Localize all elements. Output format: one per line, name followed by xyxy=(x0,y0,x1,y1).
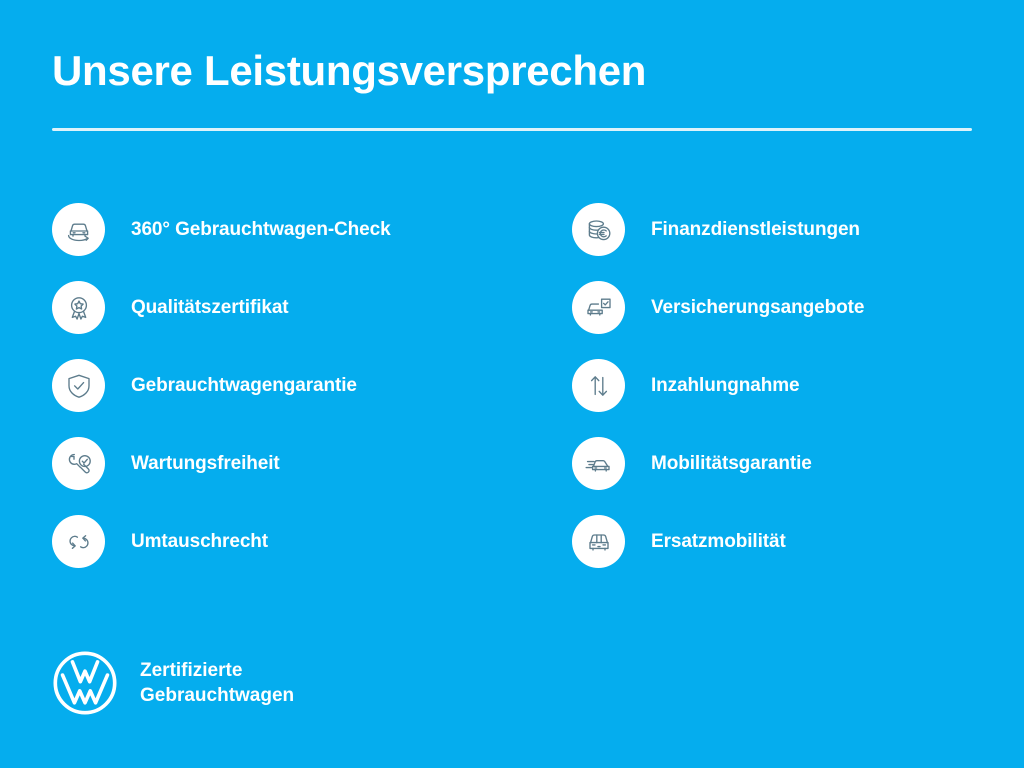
page-title: Unsere Leistungsversprechen xyxy=(52,48,972,94)
benefit-label: Ersatzmobilität xyxy=(651,531,786,553)
benefits-section: 360° Gebrauchtwagen-Check Qualitätszerti… xyxy=(0,203,1024,593)
brand-footer-line-1: Zertifizierte xyxy=(140,658,294,683)
benefit-label: Qualitätszertifikat xyxy=(131,297,289,319)
benefits-right-column: Finanzdienstleistungen xyxy=(572,203,1012,593)
benefit-item-quality-certificate[interactable]: Qualitätszertifikat xyxy=(52,281,522,334)
badge xyxy=(572,203,625,256)
benefit-item-360-check[interactable]: 360° Gebrauchtwagen-Check xyxy=(52,203,522,256)
benefit-label: 360° Gebrauchtwagen-Check xyxy=(131,219,391,241)
shield-check-icon xyxy=(63,370,95,402)
badge xyxy=(52,515,105,568)
badge xyxy=(52,203,105,256)
car-speed-icon xyxy=(583,448,615,480)
coins-euro-icon xyxy=(583,214,615,246)
benefit-item-insurance-offers[interactable]: Versicherungsangebote xyxy=(572,281,1012,334)
benefit-item-mobility-guarantee[interactable]: Mobilitätsgarantie xyxy=(572,437,1012,490)
benefit-item-trade-in[interactable]: Inzahlungnahme xyxy=(572,359,1012,412)
volkswagen-logo xyxy=(52,650,118,716)
car-front-icon xyxy=(583,526,615,558)
benefit-item-maintenance-free[interactable]: Wartungsfreiheit xyxy=(52,437,522,490)
brand-footer-line-2: Gebrauchtwagen xyxy=(140,683,294,708)
benefit-label: Inzahlungnahme xyxy=(651,375,800,397)
benefit-item-exchange-right[interactable]: Umtauschrecht xyxy=(52,515,522,568)
benefit-label: Finanzdienstleistungen xyxy=(651,219,860,241)
award-rosette-icon xyxy=(63,292,95,324)
badge xyxy=(52,437,105,490)
title-divider xyxy=(52,128,972,131)
car-document-check-icon xyxy=(583,292,615,324)
badge xyxy=(572,281,625,334)
benefit-label: Versicherungsangebote xyxy=(651,297,864,319)
up-down-arrows-icon xyxy=(583,370,615,402)
benefit-item-financial-services[interactable]: Finanzdienstleistungen xyxy=(572,203,1012,256)
exchange-arrows-icon xyxy=(63,526,95,558)
benefit-item-warranty[interactable]: Gebrauchtwagengarantie xyxy=(52,359,522,412)
header: Unsere Leistungsversprechen xyxy=(52,48,972,94)
benefit-label: Mobilitätsgarantie xyxy=(651,453,812,475)
badge xyxy=(52,281,105,334)
car-360-check-icon xyxy=(63,214,95,246)
benefits-left-column: 360° Gebrauchtwagen-Check Qualitätszerti… xyxy=(52,203,522,593)
promise-poster: Unsere Leistungsversprechen xyxy=(0,0,1024,768)
badge xyxy=(52,359,105,412)
benefit-label: Gebrauchtwagengarantie xyxy=(131,375,357,397)
badge xyxy=(572,437,625,490)
badge xyxy=(572,359,625,412)
brand-footer-text: Zertifizierte Gebrauchtwagen xyxy=(140,658,294,708)
badge xyxy=(572,515,625,568)
wrench-check-icon xyxy=(63,448,95,480)
benefit-item-replacement-mobility[interactable]: Ersatzmobilität xyxy=(572,515,1012,568)
benefit-label: Umtauschrecht xyxy=(131,531,268,553)
brand-footer: Zertifizierte Gebrauchtwagen xyxy=(52,650,294,716)
benefit-label: Wartungsfreiheit xyxy=(131,453,280,475)
